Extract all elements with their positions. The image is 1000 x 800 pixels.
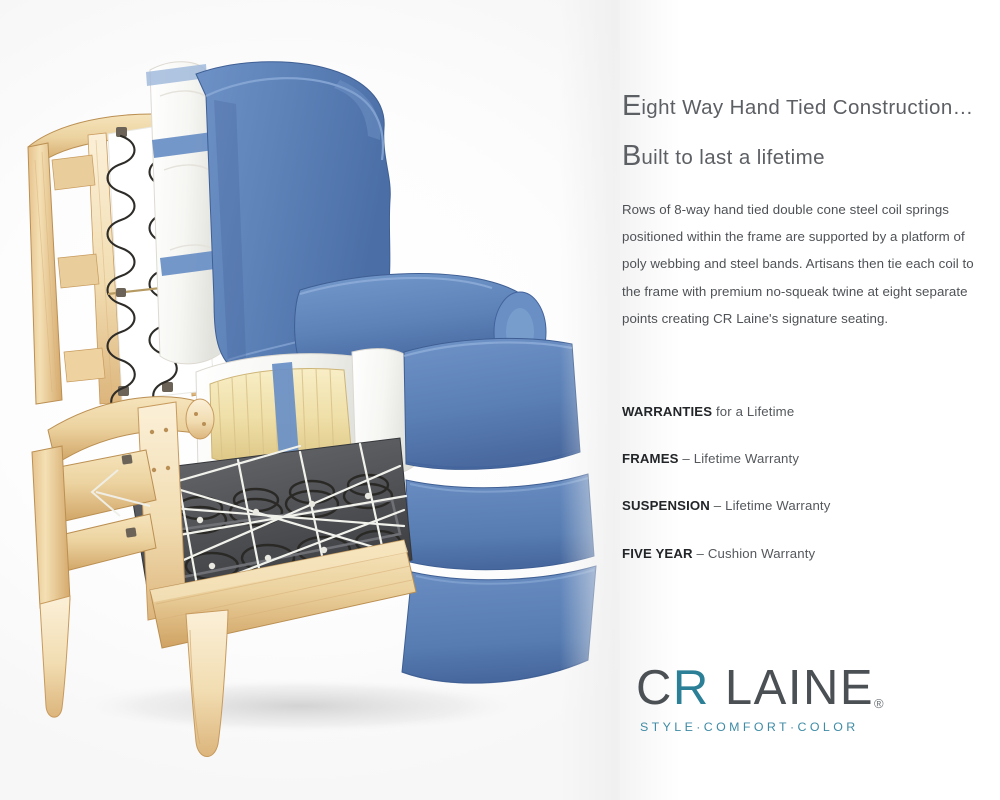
warranties-heading: WARRANTIES for a Lifetime xyxy=(622,405,982,418)
warranties-block: WARRANTIES for a Lifetime FRAMES – Lifet… xyxy=(622,405,982,560)
warranties-heading-rest: for a Lifetime xyxy=(712,404,794,419)
headline-line-2: Built to last a lifetime xyxy=(622,142,998,171)
warranty-desc-five-year: – Cushion Warranty xyxy=(693,546,816,561)
warranty-desc-suspension: – Lifetime Warranty xyxy=(710,498,831,513)
logo-wordmark: CR LAINE® xyxy=(636,664,976,713)
tagline-separator-icon-2: · xyxy=(790,720,798,734)
seat-cushion xyxy=(404,338,580,469)
warranty-label-frames: FRAMES xyxy=(622,451,679,466)
headline-dropcap-2: B xyxy=(622,140,641,172)
headline-text-1: ight Way Hand Tied Construction… xyxy=(641,96,973,119)
headline-text-2: uilt to last a lifetime xyxy=(641,146,825,169)
tagline-color: COLOR xyxy=(798,720,859,734)
warranty-row-five-year: FIVE YEAR – Cushion Warranty xyxy=(622,547,982,560)
tagline-separator-icon-1: · xyxy=(696,720,704,734)
logo-letter-r: R xyxy=(673,661,710,715)
warranty-row-frames: FRAMES – Lifetime Warranty xyxy=(622,452,982,465)
headline-block: Eight Way Hand Tied Construction… Built … xyxy=(622,92,998,192)
headline-line-1: Eight Way Hand Tied Construction… xyxy=(622,92,998,121)
cr-laine-logo: CR LAINE® STYLE·COMFORT·COLOR xyxy=(636,664,976,734)
warranty-label-suspension: SUSPENSION xyxy=(622,498,710,513)
floor-shadow xyxy=(70,678,530,734)
logo-letter-c: C xyxy=(636,661,673,715)
warranty-label-five-year: FIVE YEAR xyxy=(622,546,693,561)
tagline-style: STYLE xyxy=(640,720,696,734)
headline-dropcap-1: E xyxy=(622,90,641,122)
warranties-heading-label: WARRANTIES xyxy=(622,404,712,419)
logo-tagline: STYLE·COMFORT·COLOR xyxy=(640,720,976,734)
warranty-row-suspension: SUSPENSION – Lifetime Warranty xyxy=(622,499,982,512)
product-photo xyxy=(0,0,640,800)
tagline-comfort: COMFORT xyxy=(704,720,790,734)
registered-trademark-icon: ® xyxy=(874,696,884,711)
poster-page: Eight Way Hand Tied Construction… Built … xyxy=(0,0,1000,800)
logo-word-laine: LAINE xyxy=(710,661,874,715)
body-paragraph: Rows of 8-way hand tied double cone stee… xyxy=(622,196,974,332)
text-panel: Eight Way Hand Tied Construction… Built … xyxy=(620,0,1000,800)
chair-cutaway-illustration xyxy=(0,0,640,800)
warranty-desc-frames: – Lifetime Warranty xyxy=(679,451,800,466)
